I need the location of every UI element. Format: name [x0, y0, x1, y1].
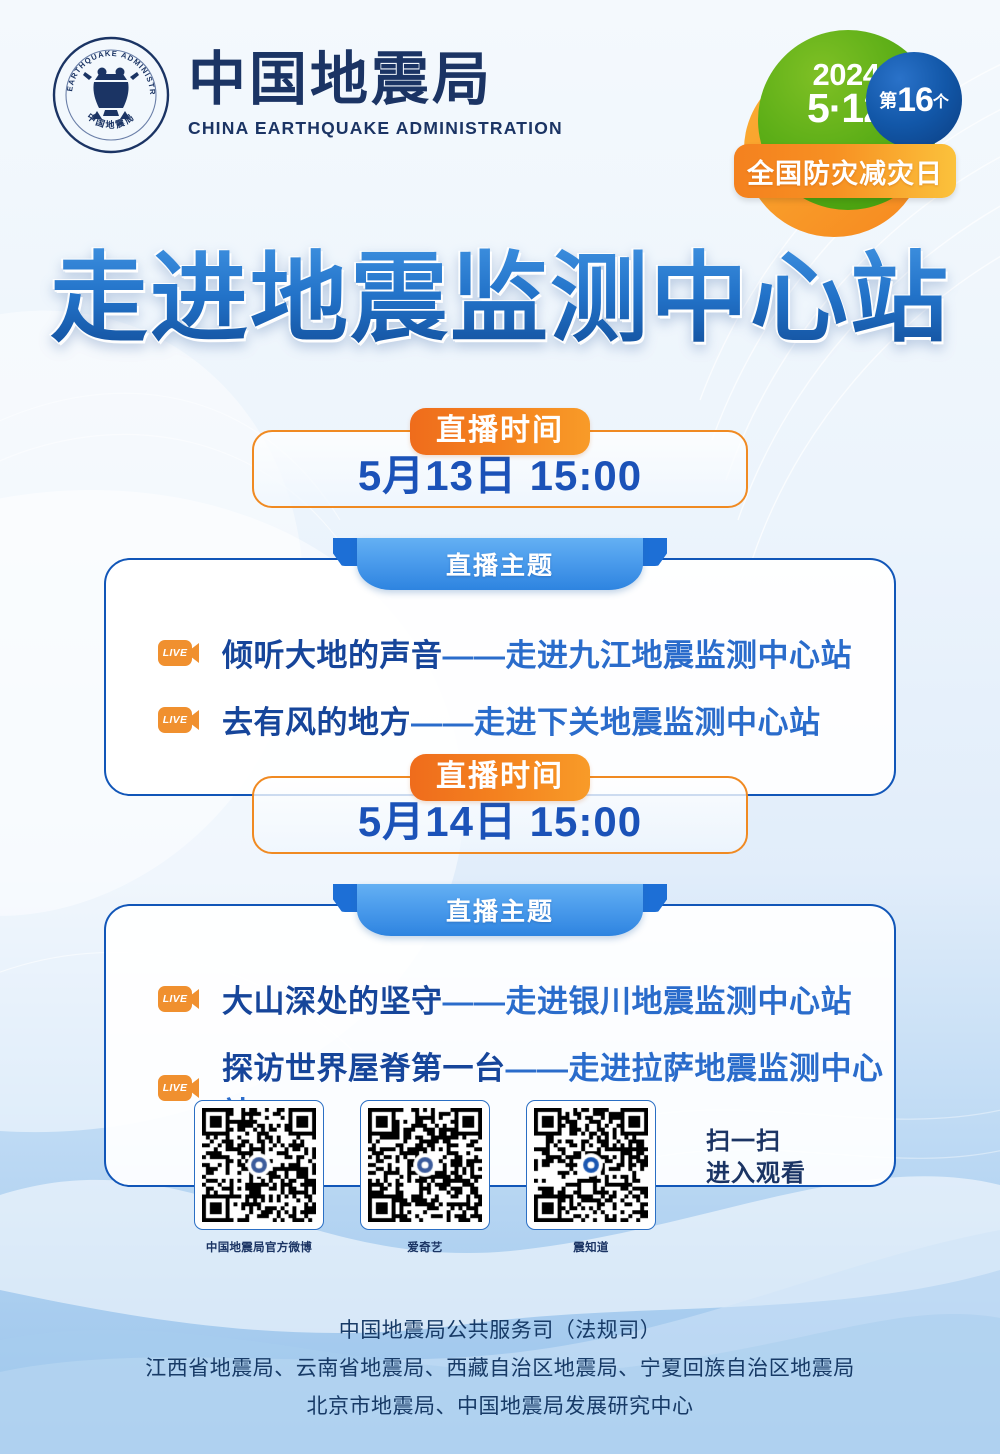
- qr-code-section: 中国地震局官方微博 爱奇艺 震知道 扫一扫 进入观看: [0, 1100, 1000, 1255]
- live-badge-icon: LIVE: [158, 986, 200, 1012]
- disaster-prevention-day-badge: 2024 5·12 第16个 全国防灾减灾日: [728, 22, 978, 232]
- play-triangle-icon: [186, 643, 199, 663]
- qr-code-item[interactable]: 爱奇艺: [360, 1100, 490, 1255]
- live-time-block-1: 5月13日 15:00 直播时间: [252, 430, 748, 508]
- poster-header: CHINA EARTHQUAKE ADMINISTRATION 中国地震局: [0, 0, 1000, 230]
- theme-title-main: 探访世界屋脊第一台: [222, 1051, 506, 1086]
- live-theme-ribbon-label-2: 直播主题: [446, 892, 554, 928]
- live-time-block-2: 5月14日 15:00 直播时间: [252, 776, 748, 854]
- theme-text: 大山深处的坚守——走进银川地震监测中心站: [222, 976, 852, 1021]
- qr-frame: [360, 1100, 490, 1230]
- badge-ordinal-prefix: 第: [879, 87, 897, 113]
- qr-code-item[interactable]: 中国地震局官方微博: [194, 1100, 324, 1255]
- qr-code-item[interactable]: 震知道: [526, 1100, 656, 1255]
- live-badge-text: LIVE: [163, 1082, 188, 1094]
- theme-title-main: 倾听大地的声音: [222, 638, 443, 673]
- theme-title-sub: ——走进九江地震监测中心站: [443, 638, 853, 673]
- organization-logo: CHINA EARTHQUAKE ADMINISTRATION 中国地震局: [52, 36, 563, 154]
- china-earthquake-administration-seal-icon: CHINA EARTHQUAKE ADMINISTRATION 中国地震局: [52, 36, 170, 154]
- live-theme-ribbon-2: 直播主题: [357, 884, 643, 936]
- qr-code-label: 震知道: [526, 1239, 656, 1255]
- footer-line-1: 中国地震局公共服务司（法规司）: [0, 1312, 1000, 1350]
- theme-title-main: 大山深处的坚守: [222, 984, 443, 1019]
- footer-line-3: 北京市地震局、中国地震局发展研究中心: [0, 1388, 1000, 1426]
- theme-title-sub: ——走进银川地震监测中心站: [443, 984, 853, 1019]
- live-badge-text: LIVE: [163, 714, 188, 726]
- qr-frame: [194, 1100, 324, 1230]
- badge-ordinal-circle: 第16个: [866, 52, 962, 148]
- badge-ribbon: 全国防灾减灾日: [734, 144, 956, 198]
- play-triangle-icon: [186, 710, 199, 730]
- qr-code-image[interactable]: [534, 1108, 648, 1222]
- page-title: 走进地震监测中心站: [0, 247, 1000, 350]
- badge-ordinal-number: 16: [897, 81, 933, 120]
- scan-instruction: 扫一扫 进入观看: [706, 1126, 806, 1189]
- badge-ribbon-label: 全国防灾减灾日: [747, 152, 943, 191]
- qr-code-label: 爱奇艺: [360, 1239, 490, 1255]
- scan-line-1: 扫一扫: [706, 1126, 806, 1158]
- theme-text: 去有风的地方——走进下关地震监测中心站: [222, 697, 821, 742]
- list-item[interactable]: LIVE 倾听大地的声音——走进九江地震监测中心站: [106, 630, 894, 675]
- qr-code-image[interactable]: [368, 1108, 482, 1222]
- live-theme-ribbon-1: 直播主题: [357, 538, 643, 590]
- theme-title-sub: ——走进下关地震监测中心站: [411, 705, 821, 740]
- footer-organizers: 中国地震局公共服务司（法规司） 江西省地震局、云南省地震局、西藏自治区地震局、宁…: [0, 1312, 1000, 1427]
- live-badge-icon: LIVE: [158, 1075, 200, 1101]
- org-name-en: CHINA EARTHQUAKE ADMINISTRATION: [188, 118, 563, 139]
- org-name-cn: 中国地震局: [188, 51, 563, 109]
- live-badge-text: LIVE: [163, 993, 188, 1005]
- organization-name-block: 中国地震局 CHINA EARTHQUAKE ADMINISTRATION: [188, 51, 563, 139]
- list-item[interactable]: LIVE 大山深处的坚守——走进银川地震监测中心站: [106, 976, 894, 1021]
- footer-line-2: 江西省地震局、云南省地震局、西藏自治区地震局、宁夏回族自治区地震局: [0, 1350, 1000, 1388]
- theme-text: 倾听大地的声音——走进九江地震监测中心站: [222, 630, 852, 675]
- qr-frame: [526, 1100, 656, 1230]
- live-badge-icon: LIVE: [158, 640, 200, 666]
- live-theme-ribbon-label-1: 直播主题: [446, 546, 554, 582]
- play-triangle-icon: [186, 989, 199, 1009]
- poster-canvas: CHINA EARTHQUAKE ADMINISTRATION 中国地震局: [0, 0, 1000, 1454]
- qr-code-image[interactable]: [202, 1108, 316, 1222]
- live-time-pill-1: 直播时间: [410, 408, 590, 455]
- qr-code-label: 中国地震局官方微博: [194, 1239, 324, 1255]
- theme-title-main: 去有风的地方: [222, 705, 411, 740]
- list-item[interactable]: LIVE 去有风的地方——走进下关地震监测中心站: [106, 697, 894, 742]
- live-badge-text: LIVE: [163, 647, 188, 659]
- live-time-pill-2: 直播时间: [410, 754, 590, 801]
- play-triangle-icon: [186, 1078, 199, 1098]
- scan-line-2: 进入观看: [706, 1158, 806, 1190]
- live-badge-icon: LIVE: [158, 707, 200, 733]
- badge-ordinal-suffix: 个: [933, 88, 949, 112]
